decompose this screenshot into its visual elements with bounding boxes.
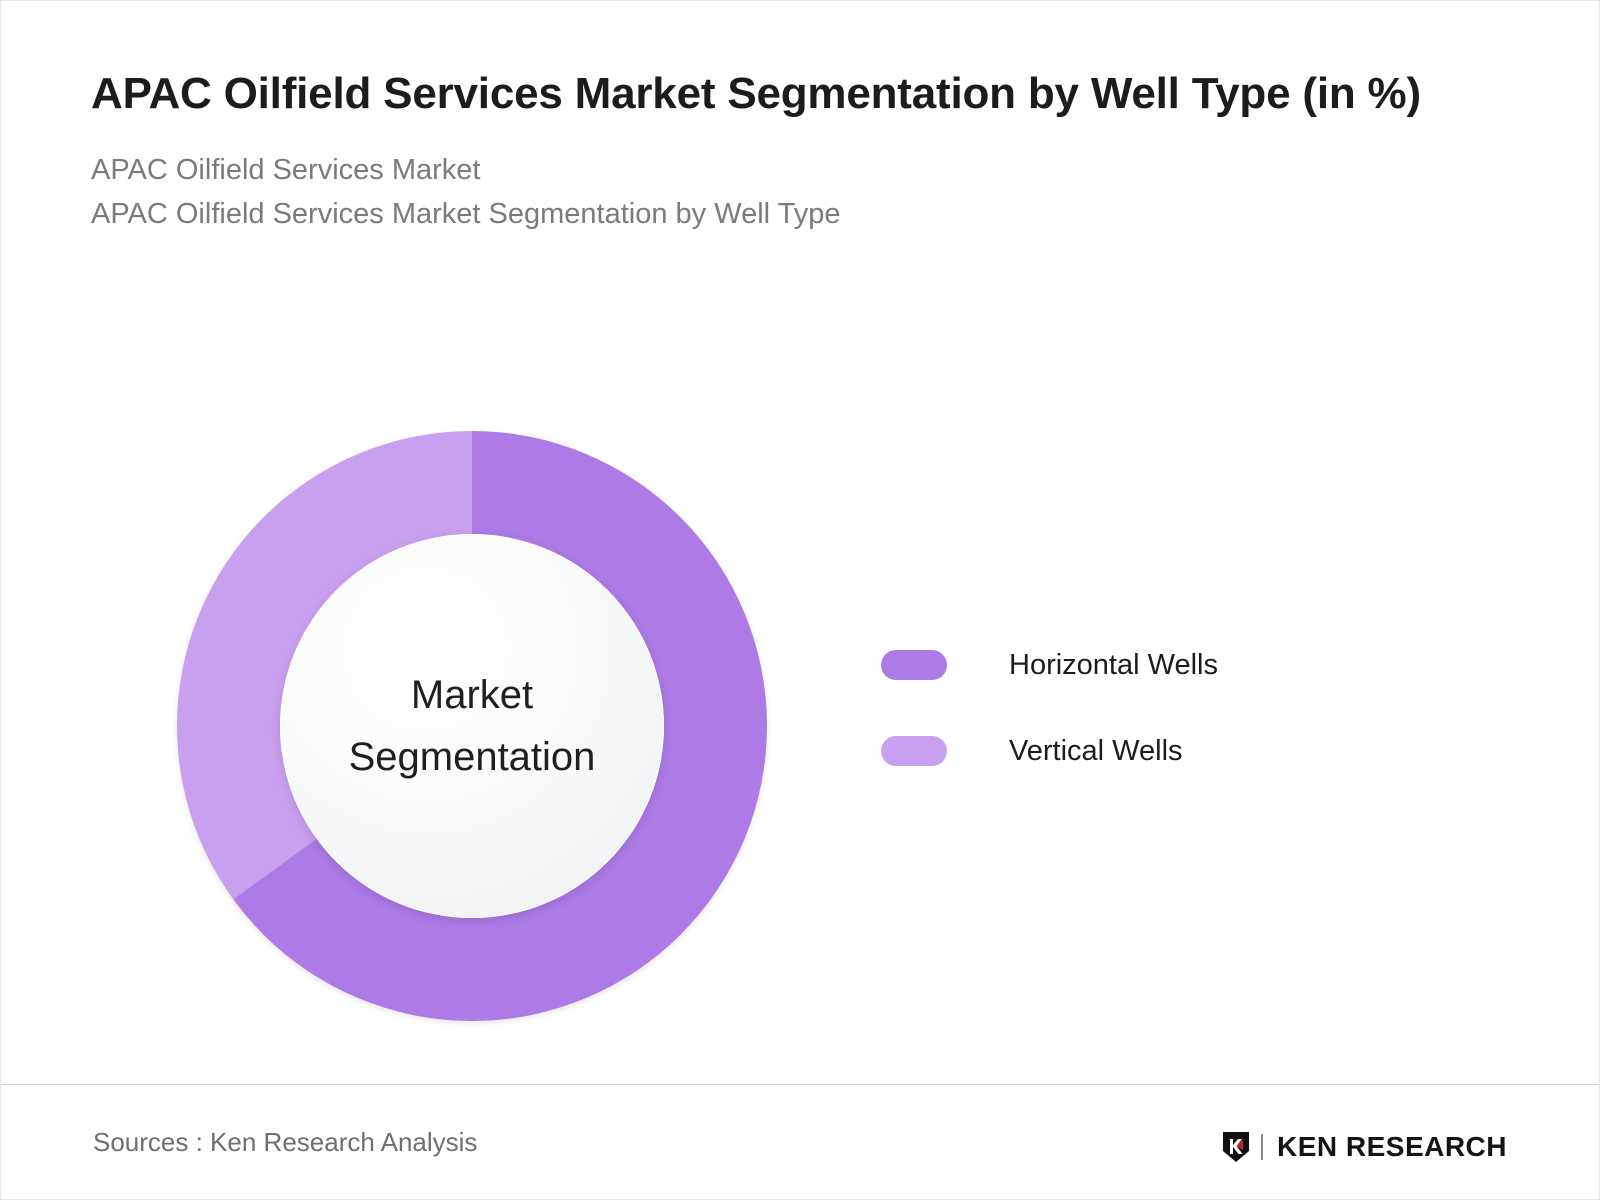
slide-root: APAC Oilfield Services Market Segmentati… <box>0 0 1600 1200</box>
chart-legend: Horizontal WellsVertical Wells <box>881 636 1401 808</box>
donut-chart: Market Segmentation <box>177 431 767 1021</box>
page-title: APAC Oilfield Services Market Segmentati… <box>91 63 1491 125</box>
donut-center-label: Market Segmentation <box>280 534 664 918</box>
footer: Sources : Ken Research Analysis KEN RESE… <box>1 1085 1599 1200</box>
brand-logo: KEN RESEARCH <box>1221 1131 1507 1163</box>
header: APAC Oilfield Services Market Segmentati… <box>91 63 1511 236</box>
brand-separator <box>1261 1134 1263 1160</box>
center-label-line-2: Segmentation <box>349 726 596 788</box>
subtitle-line-segmentation: APAC Oilfield Services Market Segmentati… <box>91 193 1511 237</box>
brand-name: KEN RESEARCH <box>1277 1131 1507 1163</box>
legend-swatch <box>881 650 947 680</box>
legend-item[interactable]: Horizontal Wells <box>881 636 1401 694</box>
legend-label: Vertical Wells <box>1009 735 1183 768</box>
legend-swatch <box>881 736 947 766</box>
subtitle-block: APAC Oilfield Services Market APAC Oilfi… <box>91 149 1511 236</box>
ken-research-shield-icon <box>1221 1131 1251 1163</box>
legend-label: Horizontal Wells <box>1009 649 1218 682</box>
source-text: Sources : Ken Research Analysis <box>93 1127 477 1158</box>
center-label-line-1: Market <box>411 664 533 726</box>
legend-item[interactable]: Vertical Wells <box>881 722 1401 780</box>
chart-area: Market Segmentation Horizontal WellsVert… <box>1 381 1600 1081</box>
subtitle-line-market: APAC Oilfield Services Market <box>91 149 1511 193</box>
